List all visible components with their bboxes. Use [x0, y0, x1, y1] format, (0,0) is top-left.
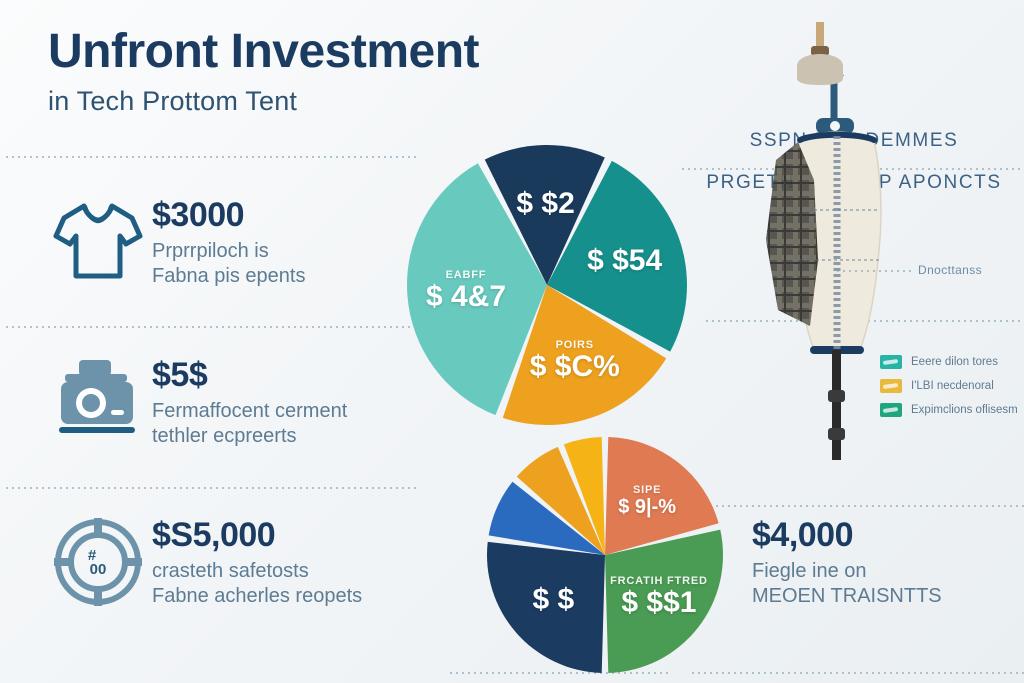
secondary-pie-chart: SIPE$ 9|-%FRCATIH FTRED$ $$1$ $: [487, 437, 723, 673]
bottom-right-stat: $4,000 Fiegle ine on MEOEN TRAISNTTS: [752, 518, 942, 610]
legend-label-1: I'LBI necdenoral: [911, 380, 994, 392]
main-pie-chart: $ $2$ $54POIRS$ $C%EABFF$ 4&7: [407, 145, 687, 425]
divider-3: [4, 487, 416, 489]
legend: Eeere dilon tores I'LBI necdenoral Expim…: [880, 355, 1018, 427]
stat-desc-1-line2: Fabna pis epents: [152, 265, 305, 287]
callout-line-1: [835, 270, 913, 272]
legend-swatch-2: [880, 403, 902, 417]
header-block: Unfront Investment in Tech Prottom Tent: [48, 26, 479, 117]
stat-desc-2-line2: tethler ecpreerts: [152, 425, 297, 447]
legend-swatch-0: [880, 355, 902, 369]
stat-text-2: $5$ Fermaffocent cerment tethler ecpreer…: [152, 356, 347, 450]
stat-row-3: # 00 $S5,000 crasteth safetosts Fabne ac…: [44, 516, 362, 610]
bottom-right-desc-line2: MEOEN TRAISNTTS: [752, 585, 942, 607]
wooden-knob-icon: [775, 22, 865, 88]
stat-desc-3-line2: Fabne acherles reopets: [152, 585, 362, 607]
camera-icon: [44, 356, 152, 438]
stat-row-2: $5$ Fermaffocent cerment tethler ecpreer…: [44, 356, 347, 450]
pie-slice-navy2-slice[interactable]: [487, 542, 605, 673]
stat-value-1: $3000: [152, 198, 305, 234]
stat-text-3: $S5,000 crasteth safetosts Fabne acherle…: [152, 516, 362, 610]
stat-text-1: $3000 Prprrpiloch is Fabna pis epents: [152, 196, 305, 290]
legend-label-2: Expimclions oflisesm: [911, 404, 1018, 416]
stat-value-2: $5$: [152, 358, 347, 394]
bottom-right-value: $4,000: [752, 518, 942, 554]
divider-1: [4, 156, 416, 158]
legend-item-2: Expimclions oflisesm: [880, 403, 1018, 417]
page-title: Unfront Investment: [48, 26, 479, 78]
pie-slice-green-slice[interactable]: [605, 530, 723, 673]
stat-row-1: $3000 Prprrpiloch is Fabna pis epents: [44, 196, 305, 290]
callout-label: Dnocttanss: [918, 263, 982, 277]
legend-item-0: Eeere dilon tores: [880, 355, 1018, 369]
divider-right-4: [690, 672, 1024, 674]
divider-right-3: [672, 505, 1024, 507]
gauge-icon: # 00: [44, 516, 152, 608]
stat-value-3: $S5,000: [152, 518, 362, 554]
legend-label-0: Eeere dilon tores: [911, 356, 998, 368]
infographic-canvas: Unfront Investment in Tech Prottom Tent …: [0, 0, 1024, 683]
svg-text:00: 00: [90, 561, 107, 578]
divider-2: [4, 326, 416, 328]
legend-item-1: I'LBI necdenoral: [880, 379, 1018, 393]
stat-desc-1-line1: Prprrpiloch is: [152, 240, 269, 262]
stat-desc-3-line1: crasteth safetosts: [152, 560, 309, 582]
page-subtitle: in Tech Prottom Tent: [48, 86, 479, 117]
tshirt-icon: [44, 196, 152, 282]
stat-desc-2-line1: Fermaffocent cerment: [152, 400, 347, 422]
bottom-right-desc-line1: Fiegle ine on: [752, 560, 867, 582]
legend-swatch-1: [880, 379, 902, 393]
